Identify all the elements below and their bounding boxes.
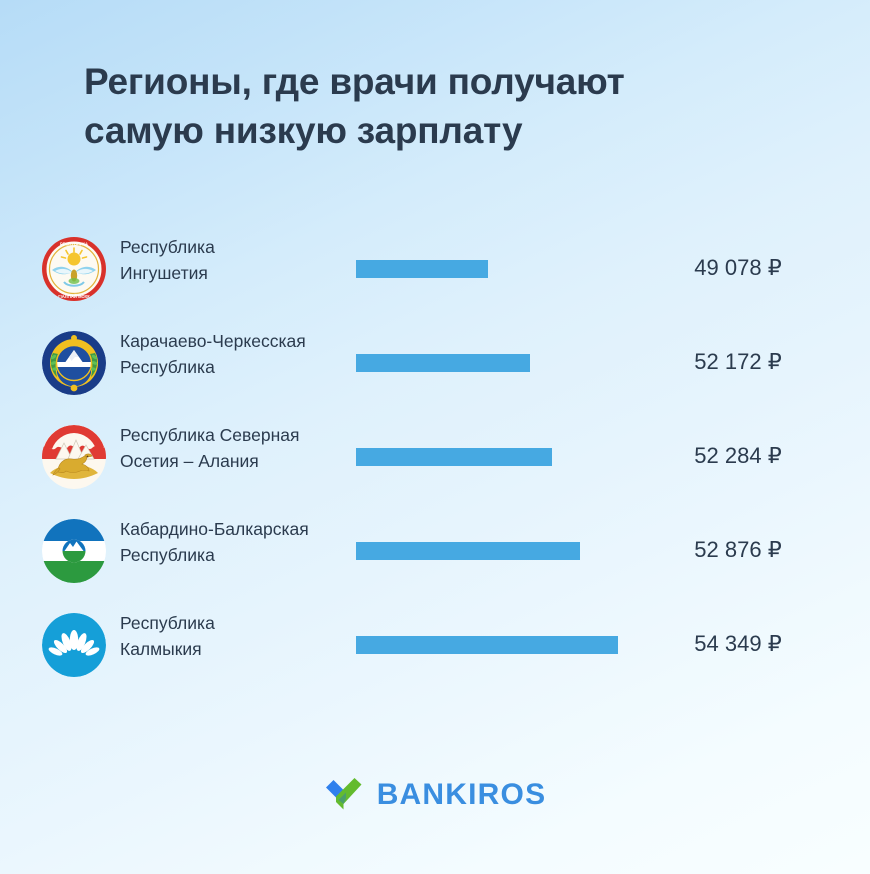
north-ossetia-alania-coat-of-arms-icon (42, 425, 106, 489)
region-name-line-1: Республика (120, 234, 355, 260)
list-item: Кабардино-Балкарская Республика 52 876 ₽ (0, 504, 870, 598)
bar-track (356, 260, 656, 278)
list-item: Республика Калмыкия 54 349 ₽ (0, 598, 870, 692)
bar-fill (356, 354, 530, 372)
region-name-line-1: Карачаево-Черкесская (120, 328, 355, 354)
salary-value: 54 349 ₽ (648, 631, 828, 657)
region-name: Кабардино-Балкарская Республика (120, 516, 355, 568)
ingushetia-coat-of-arms-icon: РЕСПУБЛИКА ГIАЛГIАЙ МОХК (42, 237, 106, 301)
region-name-line-2: Калмыкия (120, 636, 355, 662)
region-name: Карачаево-Черкесская Республика (120, 328, 355, 380)
salary-value: 52 172 ₽ (648, 349, 828, 375)
bankiros-logo-text: BANKIROS (377, 780, 547, 810)
svg-text:ГIАЛГIАЙ МОХК: ГIАЛГIАЙ МОХК (58, 294, 90, 299)
salary-value: 52 284 ₽ (648, 443, 828, 469)
title-line-1: Регионы, где врачи получают (84, 57, 764, 106)
region-name: Республика Ингушетия (120, 234, 355, 286)
bar-track (356, 354, 656, 372)
region-name-line-2: Республика (120, 354, 355, 380)
bar-track (356, 448, 656, 466)
svg-text:РЕСПУБЛИКА: РЕСПУБЛИКА (60, 242, 88, 247)
page-title: Регионы, где врачи получают самую низкую… (84, 57, 764, 155)
salary-value: 49 078 ₽ (648, 255, 828, 281)
salary-value: 52 876 ₽ (648, 537, 828, 563)
bar-fill (356, 636, 618, 654)
bar-fill (356, 260, 488, 278)
region-name-line-1: Республика Северная (120, 422, 355, 448)
list-item: РЕСПУБЛИКА ГIАЛГIАЙ МОХК Республика Ингу… (0, 222, 870, 316)
infographic-canvas: Регионы, где врачи получают самую низкую… (0, 0, 870, 874)
list-item: Республика Северная Осетия – Алания 52 2… (0, 410, 870, 504)
list-item: Карачаево-Черкесская Республика 52 172 ₽ (0, 316, 870, 410)
kabardino-balkaria-flag-icon (42, 519, 106, 583)
region-name-line-2: Ингушетия (120, 260, 355, 286)
kalmykia-lotus-icon (42, 613, 106, 677)
bar-track (356, 636, 656, 654)
region-name-line-1: Кабардино-Балкарская (120, 516, 355, 542)
region-name: Республика Северная Осетия – Алания (120, 422, 355, 474)
region-name-line-1: Республика (120, 610, 355, 636)
ranking-list: РЕСПУБЛИКА ГIАЛГIАЙ МОХК Республика Ингу… (0, 222, 870, 692)
karachay-cherkessia-coat-of-arms-icon (42, 331, 106, 395)
brand-footer: BANKIROS (0, 778, 870, 811)
region-name-line-2: Республика (120, 542, 355, 568)
title-line-2: самую низкую зарплату (84, 106, 764, 155)
bar-fill (356, 448, 552, 466)
bar-fill (356, 542, 580, 560)
bankiros-logo-icon (324, 778, 364, 811)
region-name: Республика Калмыкия (120, 610, 355, 662)
region-name-line-2: Осетия – Алания (120, 448, 355, 474)
bar-track (356, 542, 656, 560)
